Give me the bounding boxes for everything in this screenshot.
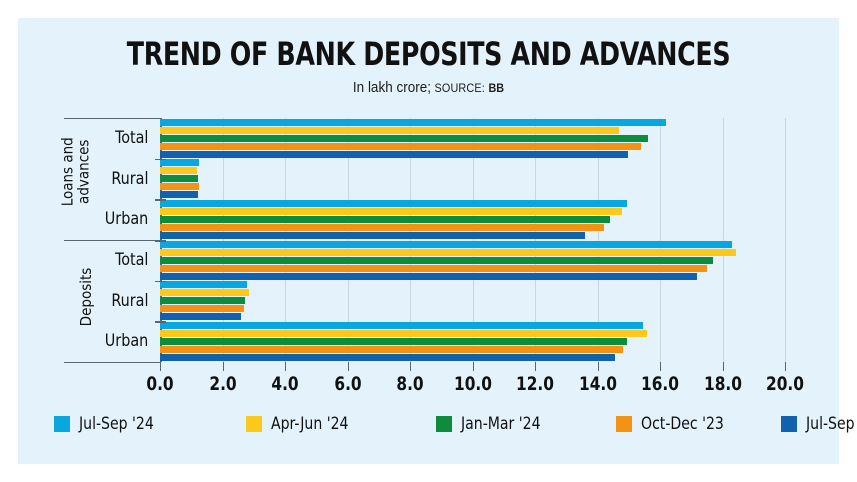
x-axis-label: 10.0 [454, 373, 492, 395]
legend-item-4[interactable]: Jul-Sep '23 [781, 414, 857, 434]
x-axis-label: 8.0 [396, 373, 423, 395]
legend-item-2[interactable]: Jan-Mar '24 [436, 414, 547, 434]
bar[interactable] [160, 257, 713, 264]
bar[interactable] [160, 289, 249, 296]
legend-swatch-icon [436, 416, 452, 432]
bar[interactable] [160, 322, 643, 329]
bar-group-rural-1 [160, 159, 785, 199]
bar[interactable] [160, 338, 627, 345]
y-axis-tick [155, 281, 166, 283]
x-axis-tick [160, 362, 161, 371]
x-axis-tick [410, 362, 411, 371]
bar[interactable] [160, 346, 623, 353]
y-axis-label-total-0: Total [115, 118, 148, 158]
x-axis-labels: 0.02.04.06.08.010.012.014.016.018.020.0 [18, 373, 839, 401]
bar[interactable] [160, 127, 619, 134]
y-axis-tick [155, 159, 166, 161]
x-axis-ticks [160, 362, 785, 372]
x-axis-label: 16.0 [641, 373, 679, 395]
bar[interactable] [160, 216, 610, 223]
plot-area [160, 118, 785, 362]
bar[interactable] [160, 297, 245, 304]
gridline [785, 118, 786, 362]
y-axis-label-rural-1: Rural [111, 159, 148, 199]
y-axis-tick [155, 240, 166, 242]
bar[interactable] [160, 265, 707, 272]
legend-label: Apr-Jun '24 [271, 414, 349, 434]
x-axis-tick [285, 362, 286, 371]
legend-item-1[interactable]: Apr-Jun '24 [246, 414, 355, 434]
bar[interactable] [160, 200, 627, 207]
x-axis-tick [348, 362, 349, 371]
bar[interactable] [160, 175, 198, 182]
legend-item-3[interactable]: Oct-Dec '23 [616, 414, 731, 434]
x-axis-tick [223, 362, 224, 371]
bar[interactable] [160, 281, 247, 288]
bar[interactable] [160, 249, 736, 256]
bar[interactable] [160, 232, 585, 239]
legend-label: Jul-Sep '23 [806, 414, 857, 434]
x-axis-tick [723, 362, 724, 371]
bar[interactable] [160, 191, 198, 198]
bar[interactable] [160, 143, 641, 150]
x-axis-tick [473, 362, 474, 371]
legend-swatch-icon [616, 416, 632, 432]
bar[interactable] [160, 159, 199, 166]
y-axis-tick [155, 321, 166, 323]
bar-group-urban-2 [160, 199, 785, 239]
bar-group-urban-5 [160, 321, 785, 361]
bar[interactable] [160, 183, 199, 190]
bar[interactable] [160, 313, 241, 320]
bar-group-total-0 [160, 118, 785, 158]
chart-legend: Jul-Sep '24Apr-Jun '24Jan-Mar '24Oct-Dec… [36, 414, 826, 444]
bar[interactable] [160, 241, 732, 248]
y-axis-label-urban-2: Urban [105, 199, 148, 239]
group-separator-bottom [64, 362, 160, 363]
legend-label: Jan-Mar '24 [461, 414, 541, 434]
y-axis-label-rural-4: Rural [111, 281, 148, 321]
bar[interactable] [160, 208, 622, 215]
chart-card: TREND OF BANK DEPOSITS AND ADVANCES In l… [18, 18, 839, 464]
bar[interactable] [160, 273, 697, 280]
bar-group-total-3 [160, 240, 785, 280]
x-axis-label: 0.0 [146, 373, 173, 395]
bar[interactable] [160, 305, 244, 312]
plot-wrap: Loans and advances Deposits TotalRuralUr… [18, 18, 839, 464]
x-axis-label: 20.0 [766, 373, 804, 395]
x-axis-label: 6.0 [334, 373, 361, 395]
x-axis-label: 12.0 [516, 373, 554, 395]
legend-label: Jul-Sep '24 [79, 414, 154, 434]
bar[interactable] [160, 135, 648, 142]
x-axis-label: 4.0 [271, 373, 298, 395]
y-axis-labels: TotalRuralUrbanTotalRuralUrban [18, 118, 154, 362]
bar[interactable] [160, 167, 197, 174]
x-axis-tick [785, 362, 786, 371]
bar[interactable] [160, 151, 628, 158]
legend-swatch-icon [781, 416, 797, 432]
bar[interactable] [160, 119, 666, 126]
legend-item-0[interactable]: Jul-Sep '24 [54, 414, 160, 434]
x-axis-tick [598, 362, 599, 371]
x-axis-tick [535, 362, 536, 371]
bar-group-rural-4 [160, 281, 785, 321]
legend-swatch-icon [54, 416, 70, 432]
legend-swatch-icon [246, 416, 262, 432]
bar[interactable] [160, 354, 615, 361]
y-axis-tick [155, 199, 166, 201]
bar[interactable] [160, 224, 604, 231]
x-axis-tick [660, 362, 661, 371]
x-axis-label: 14.0 [579, 373, 617, 395]
legend-label: Oct-Dec '23 [641, 414, 724, 434]
y-axis-label-urban-5: Urban [105, 321, 148, 361]
x-axis-label: 2.0 [209, 373, 236, 395]
x-axis-label: 18.0 [704, 373, 742, 395]
bar[interactable] [160, 330, 647, 337]
y-axis-label-total-3: Total [115, 240, 148, 280]
